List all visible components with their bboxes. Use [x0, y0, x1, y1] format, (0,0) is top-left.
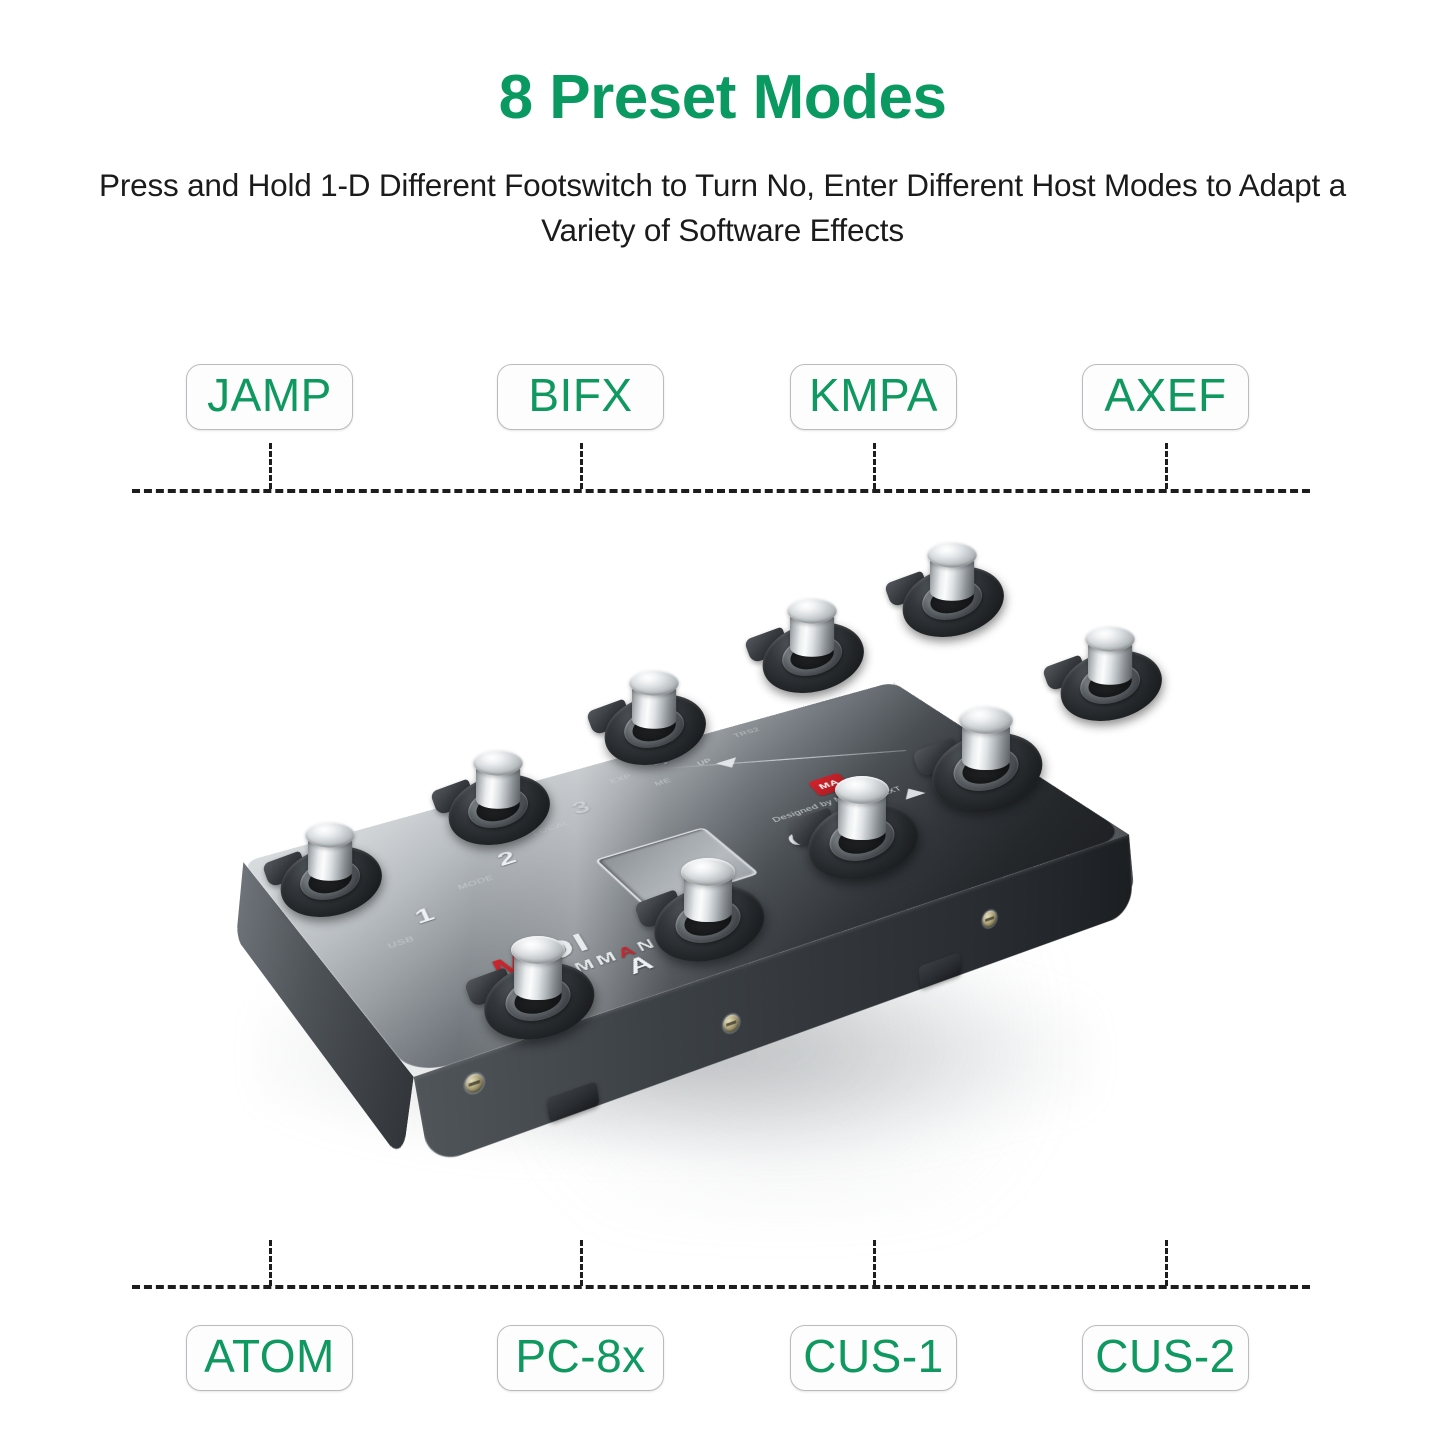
connector-rail-bottom: [132, 1285, 1310, 1289]
mode-badge-kmpa[interactable]: KMPA: [790, 364, 957, 430]
footswitch-cap: [681, 858, 735, 886]
footswitch-1[interactable]: [279, 814, 382, 917]
footswitch-mark-2: 2: [494, 846, 521, 870]
footswitch-cap: [927, 542, 977, 568]
connector-line-cus1: [873, 1240, 876, 1286]
page-subtitle: Press and Hold 1-D Different Footswitch …: [50, 163, 1395, 254]
silkscreen-label-me: ME: [653, 777, 673, 788]
connector-line-pc8x: [580, 1240, 583, 1286]
mode-badge-kmpa-label: KMPA: [809, 368, 938, 422]
footswitch-2[interactable]: [447, 742, 550, 845]
mode-badge-cus2-label: CUS-2: [1095, 1329, 1236, 1383]
mode-badge-bifx[interactable]: BIFX: [497, 364, 664, 430]
mode-badge-cus2[interactable]: CUS-2: [1082, 1325, 1249, 1391]
footswitch-c[interactable]: [807, 768, 919, 880]
connector-line-atom: [269, 1240, 272, 1286]
footswitch-cap: [629, 670, 679, 696]
mode-badge-jamp[interactable]: JAMP: [186, 364, 353, 430]
footswitch-4[interactable]: [761, 590, 864, 693]
rubber-foot: [546, 1081, 600, 1123]
rubber-foot: [918, 952, 961, 989]
silkscreen-label-trs2: TRS2: [732, 726, 762, 739]
connector-rail-top: [132, 489, 1310, 493]
arrow-up-icon: [716, 757, 742, 771]
footswitch-a[interactable]: [483, 928, 595, 1040]
silkscreen-label-exp: EXP: [608, 773, 633, 785]
mode-badge-bifx-label: BIFX: [528, 368, 632, 422]
page-root: 8 Preset Modes Press and Hold 1-D Differ…: [0, 0, 1445, 1445]
silkscreen-label-usb: USB: [386, 934, 416, 950]
chassis-screw: [464, 1071, 485, 1095]
footswitch-3[interactable]: [603, 662, 706, 765]
connector-line-kmpa: [873, 443, 876, 489]
chassis-screw: [982, 909, 997, 930]
footswitch-cap: [511, 936, 565, 964]
footswitch-cap: [835, 776, 889, 804]
footswitch-5[interactable]: [901, 534, 1004, 637]
footswitch-cap: [473, 750, 523, 776]
mode-badge-pc8x-label: PC-8x: [515, 1329, 645, 1383]
footswitch-mark-1: 1: [411, 902, 439, 928]
footswitch-6[interactable]: [1059, 618, 1162, 721]
mode-badge-cus1[interactable]: CUS-1: [790, 1325, 957, 1391]
mode-badge-cus1-label: CUS-1: [803, 1329, 944, 1383]
connector-line-cus2: [1165, 1240, 1168, 1286]
mode-badge-pc8x[interactable]: PC-8x: [497, 1325, 664, 1391]
mode-badge-jamp-label: JAMP: [207, 368, 332, 422]
footswitch-cap: [959, 706, 1013, 734]
connector-line-jamp: [269, 443, 272, 489]
mode-badge-axef-label: AXEF: [1104, 368, 1226, 422]
footswitch-mark-3: 3: [568, 796, 595, 818]
footswitch-cap: [1085, 626, 1135, 652]
product-image-midi-commander: MIDI COMMANDER MA Designed by MeloAudio …: [195, 520, 1255, 1200]
footswitch-cap: [787, 598, 837, 624]
mode-badge-atom-label: ATOM: [204, 1329, 335, 1383]
footswitch-b[interactable]: [653, 850, 765, 962]
connector-line-axef: [1165, 443, 1168, 489]
footswitch-d[interactable]: [931, 698, 1043, 810]
connector-line-bifx: [580, 443, 583, 489]
silkscreen-label-mode: MODE: [456, 873, 495, 891]
chassis-screw: [722, 1012, 740, 1034]
mode-badge-atom[interactable]: ATOM: [186, 1325, 353, 1391]
page-title: 8 Preset Modes: [0, 62, 1445, 133]
mode-badge-axef[interactable]: AXEF: [1082, 364, 1249, 430]
footswitch-cap: [305, 822, 355, 848]
